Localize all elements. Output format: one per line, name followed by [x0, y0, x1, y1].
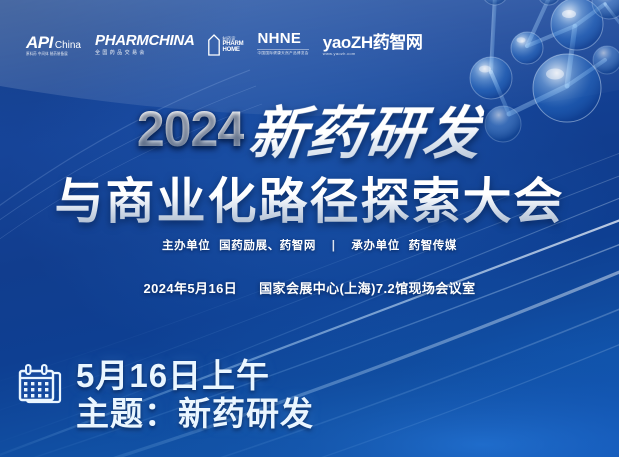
title-calligraphy: 新药研发	[245, 88, 487, 170]
sponsor-logo-strip: API China 原料药 中间体 制药装备展 PHARMCHINA 全国药品交…	[26, 22, 423, 56]
session-block: 5月16日上午 主题：新药研发	[18, 358, 314, 434]
event-date: 2024年5月16日	[144, 281, 238, 296]
logo-pharmchina[interactable]: PHARMCHINA 全国药品交易会	[95, 33, 195, 56]
host-label: 主办单位	[162, 240, 210, 252]
organizer-separator: |	[332, 240, 336, 252]
logo-pharm-home-cn: 制药家	[222, 37, 243, 41]
logo-yaozh-sub: www.yaozh.com	[323, 52, 423, 56]
logo-pharm-home[interactable]: 制药家 PHARM HOME	[208, 34, 243, 56]
organizer-value: 药智传媒	[409, 240, 457, 252]
logo-api-china-main: API	[26, 34, 53, 51]
host-value: 国药励展、药智网	[219, 240, 316, 252]
main-title: 2024 新药研发 与商业化路径探索大会	[0, 98, 619, 233]
date-venue-line: 2024年5月16日 国家会展中心(上海)7.2馆现场会议室	[0, 278, 619, 297]
logo-nhne-sub: 中国国际健康天然产品博览会	[257, 49, 308, 56]
event-venue: 国家会展中心(上海)7.2馆现场会议室	[259, 281, 475, 296]
logo-api-china-tagline: 原料药 中间体 制药装备展	[26, 52, 68, 56]
organizer-line: 主办单位 国药励展、药智网 | 承办单位 药智传媒	[0, 237, 619, 253]
session-topic: 主题：新药研发	[76, 395, 314, 434]
session-time: 5月16日上午	[76, 358, 314, 395]
logo-yaozh-main: yaoZH药智网	[323, 34, 423, 51]
conference-banner: API China 原料药 中间体 制药装备展 PHARMCHINA 全国药品交…	[0, 0, 619, 457]
logo-pharmchina-sub: 全国药品交易会	[95, 51, 195, 56]
title-line-2: 与商业化路径探索大会	[0, 162, 619, 233]
logo-nhne-main: NHNE	[257, 31, 308, 46]
organizer-label: 承办单位	[351, 240, 399, 252]
logo-nhne[interactable]: NHNE 中国国际健康天然产品博览会	[257, 31, 308, 56]
calendar-icon	[18, 364, 62, 406]
logo-api-china-sub: China	[55, 41, 81, 51]
title-line-1: 2024 新药研发	[0, 98, 619, 160]
logo-pharmchina-main: PHARMCHINA	[95, 33, 195, 48]
logo-api-china[interactable]: API China 原料药 中间体 制药装备展	[26, 34, 81, 56]
logo-yaozh[interactable]: yaoZH药智网 www.yaozh.com	[323, 34, 423, 56]
house-icon	[208, 34, 220, 56]
logo-pharm-home-en2: HOME	[222, 47, 243, 53]
title-year: 2024	[137, 100, 244, 158]
